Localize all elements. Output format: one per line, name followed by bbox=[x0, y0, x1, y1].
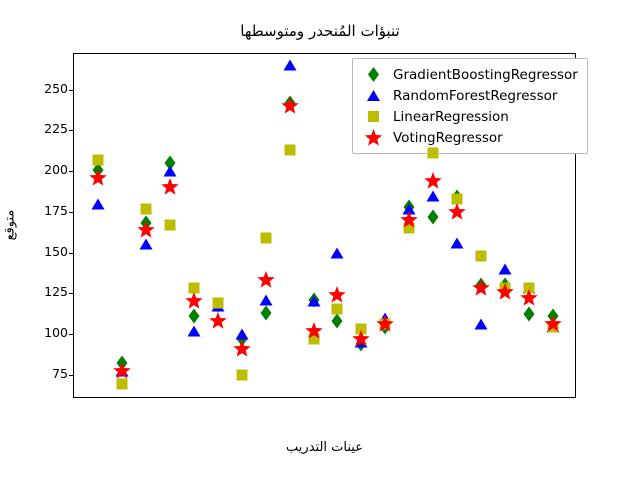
data-point bbox=[284, 145, 295, 156]
data-point bbox=[475, 319, 488, 330]
data-point bbox=[499, 263, 512, 274]
data-point bbox=[520, 289, 539, 307]
data-point bbox=[188, 309, 199, 324]
data-point bbox=[544, 315, 563, 333]
legend-label: RandomForestRegressor bbox=[393, 88, 557, 104]
data-point bbox=[283, 60, 296, 71]
data-point bbox=[92, 154, 103, 165]
data-point bbox=[256, 271, 275, 289]
y-axis-tick-label: 250 bbox=[0, 81, 68, 96]
data-point bbox=[187, 325, 200, 336]
data-point bbox=[307, 296, 320, 307]
legend-marker-triangle-icon bbox=[360, 90, 386, 101]
y-axis-tick-label: 225 bbox=[0, 121, 68, 136]
y-axis-tick-label: 150 bbox=[0, 244, 68, 259]
data-point bbox=[400, 211, 419, 229]
data-point bbox=[164, 219, 175, 230]
legend-label: LinearRegression bbox=[393, 109, 509, 125]
data-point bbox=[424, 172, 443, 190]
legend-entry: LinearRegression bbox=[360, 106, 578, 127]
data-point bbox=[524, 307, 535, 322]
data-point bbox=[280, 97, 299, 115]
data-point bbox=[448, 203, 467, 221]
data-point bbox=[236, 369, 247, 380]
data-point bbox=[160, 178, 179, 196]
x-axis-label: عينات التدريب bbox=[73, 440, 576, 455]
legend-marker-star-icon bbox=[360, 129, 386, 147]
data-point bbox=[88, 169, 107, 187]
legend-marker-diamond-icon bbox=[360, 67, 386, 82]
data-point bbox=[428, 209, 439, 224]
legend-label: VotingRegressor bbox=[393, 130, 503, 146]
data-point bbox=[472, 279, 491, 297]
y-axis-tick-label: 100 bbox=[0, 325, 68, 340]
data-point bbox=[260, 305, 271, 320]
data-point bbox=[140, 203, 151, 214]
data-point bbox=[136, 221, 155, 239]
data-point bbox=[331, 247, 344, 258]
legend-entry: GradientBoostingRegressor bbox=[360, 64, 578, 85]
data-point bbox=[260, 232, 271, 243]
y-axis-tick-label: 75 bbox=[0, 366, 68, 381]
data-point bbox=[112, 362, 131, 380]
data-point bbox=[91, 198, 104, 209]
y-axis-tick-label: 200 bbox=[0, 162, 68, 177]
data-point bbox=[496, 283, 515, 301]
data-point bbox=[235, 328, 248, 339]
y-axis-tick-label: 125 bbox=[0, 284, 68, 299]
data-point bbox=[116, 379, 127, 390]
y-axis-tick-label: 175 bbox=[0, 203, 68, 218]
data-point bbox=[184, 292, 203, 310]
data-point bbox=[352, 330, 371, 348]
figure: تنبؤات المُنحدر ومتوسطها متوقع عينات الت… bbox=[0, 0, 640, 480]
legend-label: GradientBoostingRegressor bbox=[393, 67, 578, 83]
legend-marker-square-icon bbox=[360, 111, 386, 122]
data-point bbox=[208, 312, 227, 330]
data-point bbox=[328, 286, 347, 304]
chart-legend: GradientBoostingRegressorRandomForestReg… bbox=[352, 58, 588, 154]
chart-title: تنبؤات المُنحدر ومتوسطها bbox=[0, 22, 640, 40]
data-point bbox=[376, 315, 395, 333]
data-point bbox=[304, 322, 323, 340]
data-point bbox=[427, 190, 440, 201]
data-point bbox=[139, 239, 152, 250]
data-point bbox=[451, 237, 464, 248]
data-point bbox=[332, 304, 343, 315]
data-point bbox=[212, 297, 223, 308]
data-point bbox=[232, 340, 251, 358]
legend-entry: RandomForestRegressor bbox=[360, 85, 578, 106]
data-point bbox=[428, 148, 439, 159]
legend-entry: VotingRegressor bbox=[360, 127, 578, 148]
data-point bbox=[332, 313, 343, 328]
data-point bbox=[163, 166, 176, 177]
data-point bbox=[476, 250, 487, 261]
data-point bbox=[259, 294, 272, 305]
